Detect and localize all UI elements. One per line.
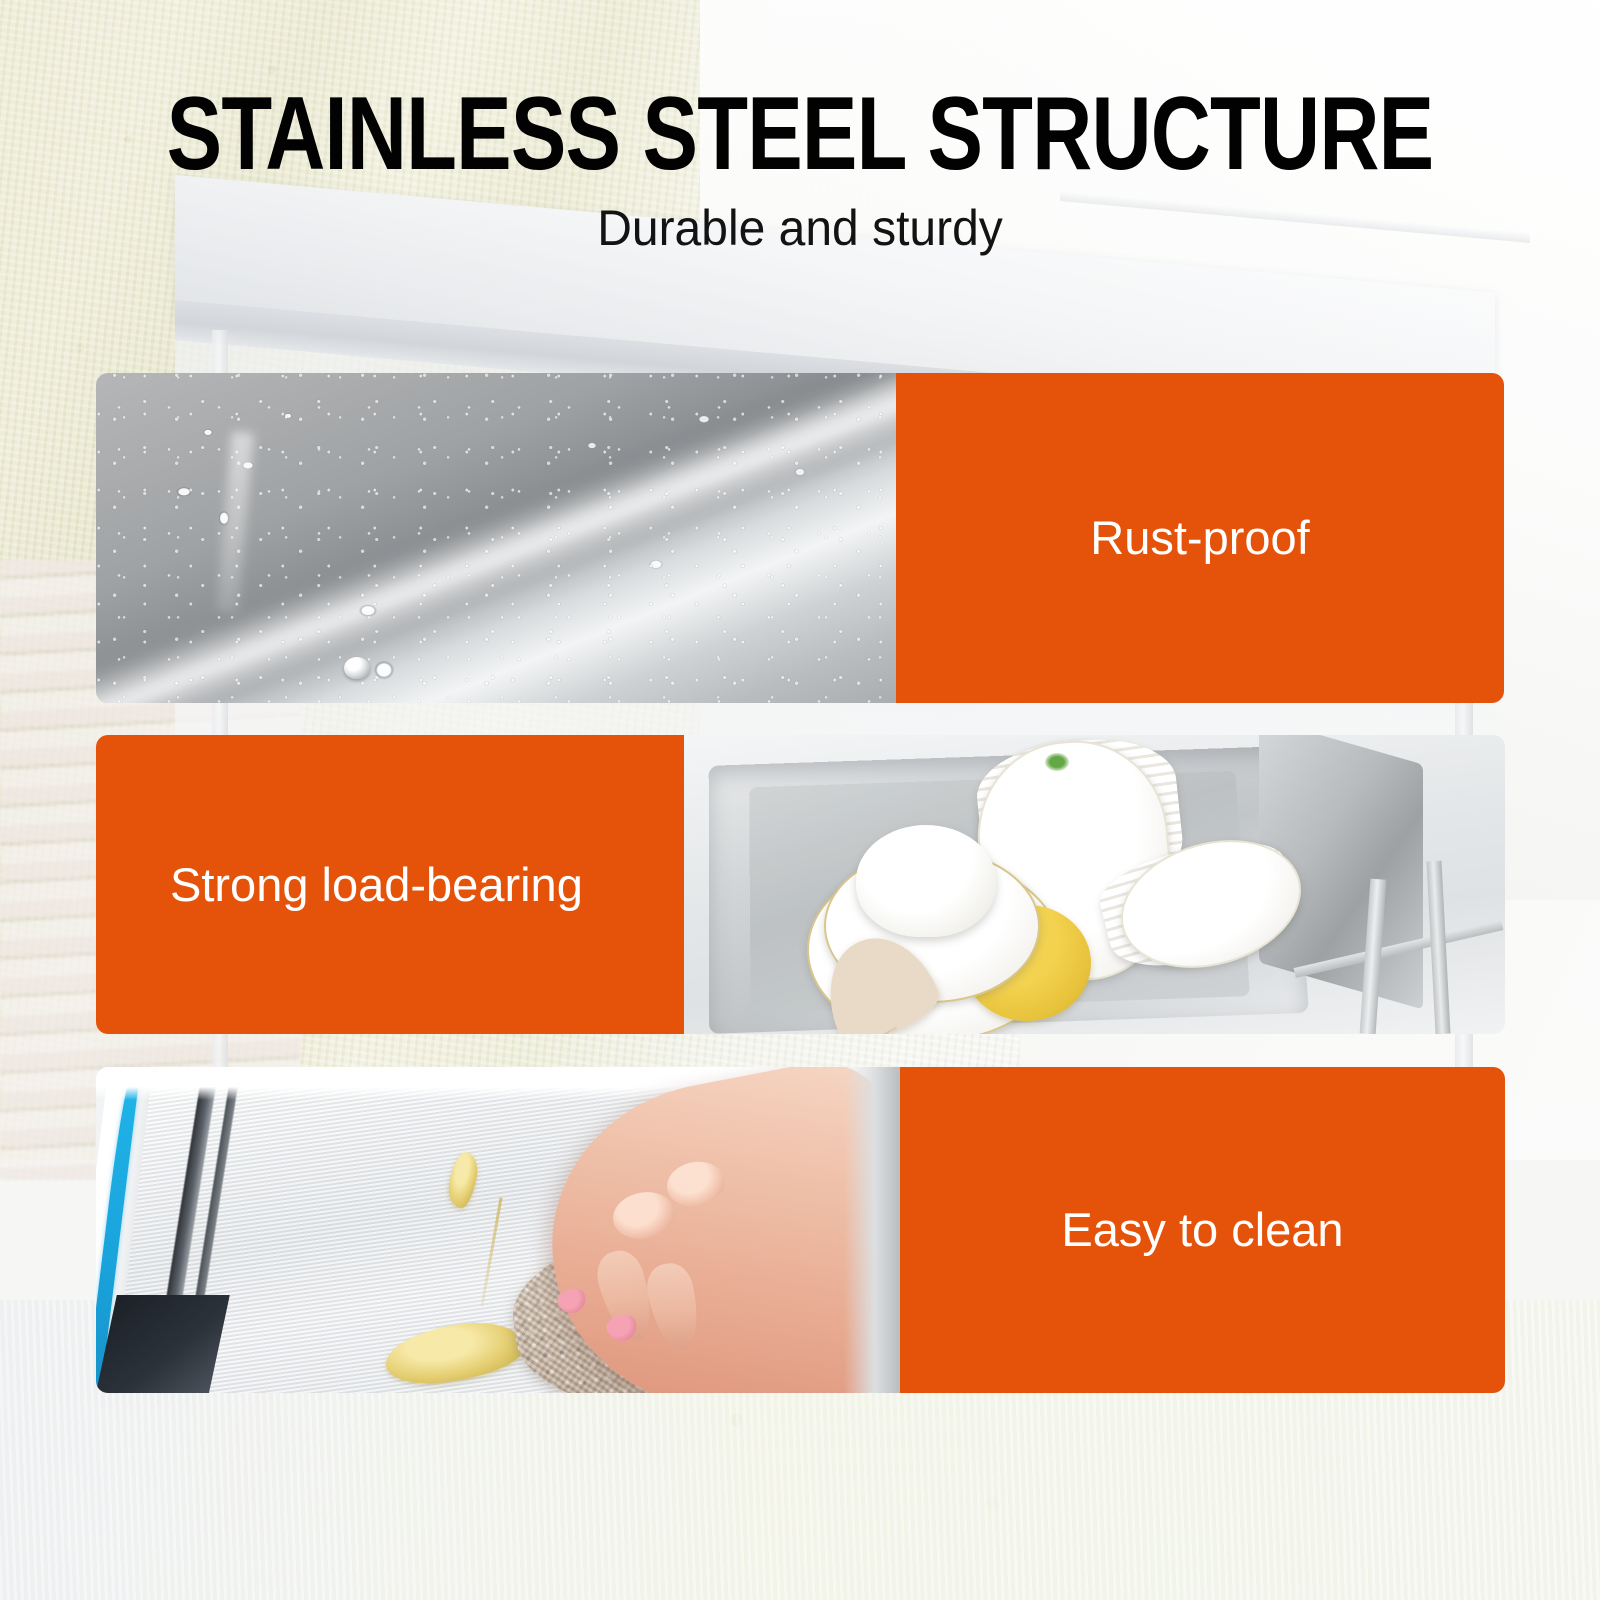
heading-block: STAINLESS STEEL STRUCTURE Durable and st… — [0, 0, 1600, 256]
photo-right-fade — [844, 1067, 900, 1393]
feature-row-easy-to-clean: Easy to clean — [96, 1067, 1505, 1393]
feature-panel-easy-to-clean: Easy to clean — [900, 1067, 1505, 1393]
feature-panel-strong-load-bearing: Strong load-bearing — [96, 735, 684, 1034]
product-feature-banner: STAINLESS STEEL STRUCTURE Durable and st… — [0, 0, 1600, 1600]
page-title: STAINLESS STEEL STRUCTURE — [160, 0, 1440, 186]
bowl-white — [856, 825, 996, 937]
feature-panel-rust-proof: Rust-proof — [896, 373, 1504, 703]
water-droplet-hanging — [344, 657, 370, 679]
plate-brand-mark — [1045, 753, 1069, 771]
feature-label-rust-proof: Rust-proof — [1090, 510, 1309, 566]
feature-photo-strong-load-bearing — [684, 735, 1505, 1034]
water-droplets-fine — [96, 373, 896, 703]
feature-row-rust-proof: Rust-proof — [96, 373, 1504, 703]
dark-corner-shadow — [96, 1295, 229, 1393]
feature-label-strong-load-bearing: Strong load-bearing — [170, 857, 583, 913]
knuckle-1 — [609, 1187, 679, 1244]
feature-photo-easy-to-clean — [96, 1067, 900, 1393]
page-subtitle: Durable and sturdy — [32, 186, 1568, 256]
knuckle-2 — [663, 1157, 728, 1211]
feature-photo-rust-proof — [96, 373, 896, 703]
feature-row-strong-load-bearing: Strong load-bearing — [96, 735, 1505, 1034]
feature-label-easy-to-clean: Easy to clean — [1061, 1202, 1343, 1258]
